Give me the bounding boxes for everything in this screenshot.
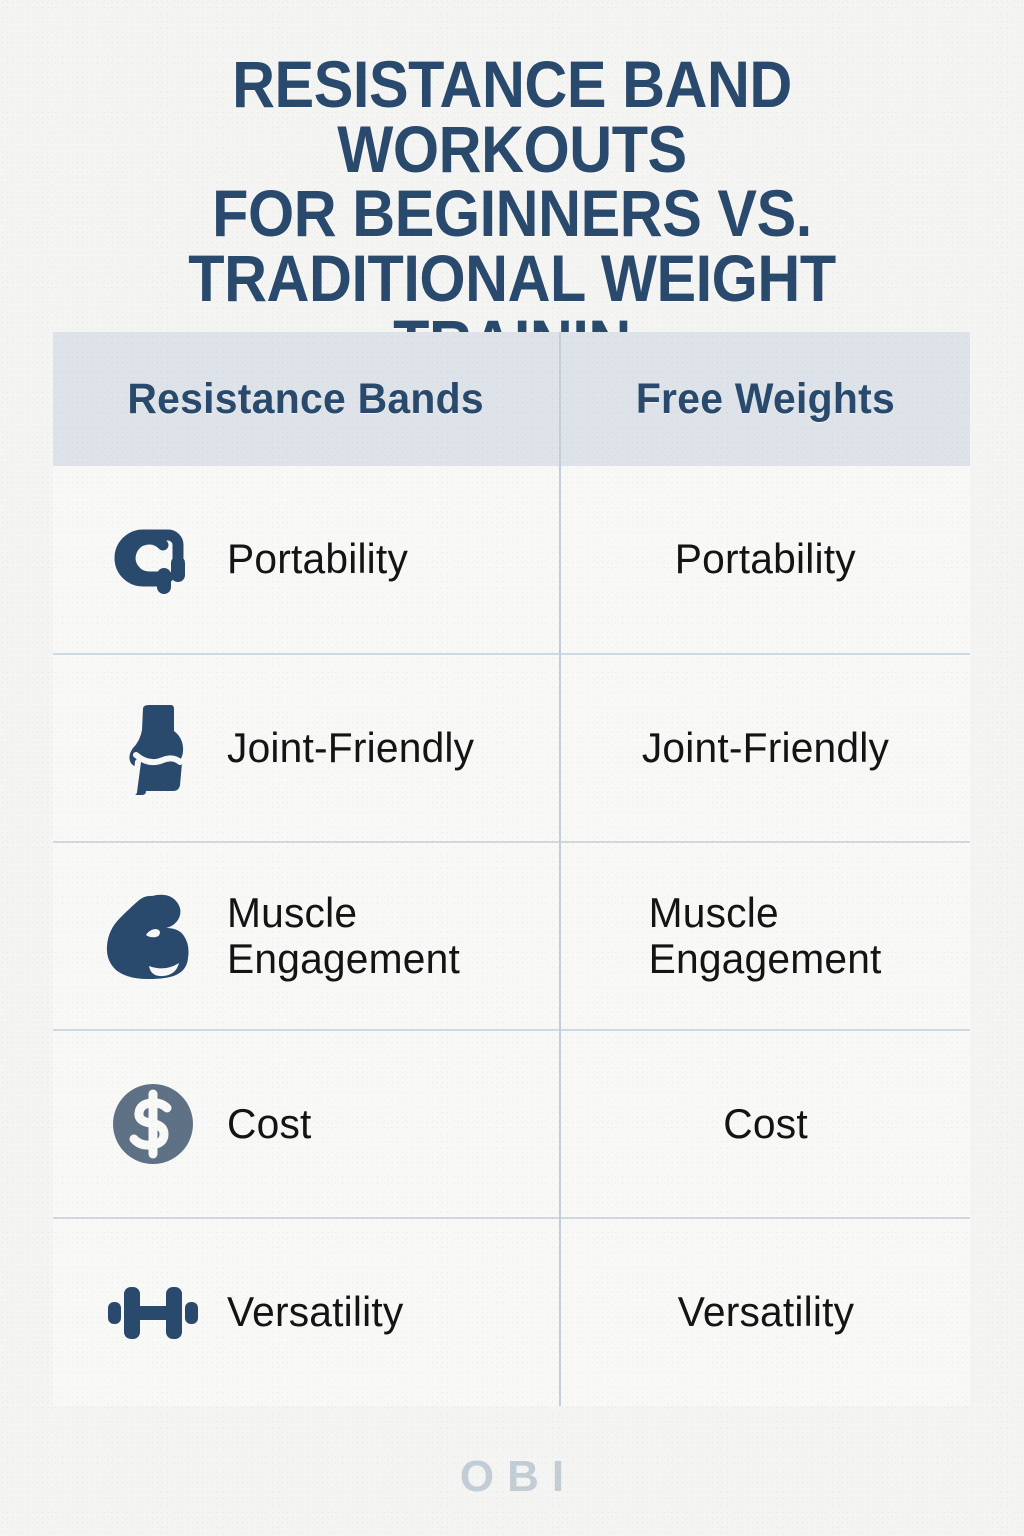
- brand-logo: OBI: [447, 1452, 577, 1502]
- cell-resistance-bands: Versatility: [53, 1218, 560, 1406]
- cell-free-weights: Cost: [560, 1030, 970, 1218]
- dumbbell-icon: [105, 1265, 201, 1361]
- row-label-right: Joint-Friendly: [642, 725, 889, 771]
- cell-resistance-bands: Portability: [53, 466, 560, 654]
- table-row: Muscle Engagement Muscle Engagement: [53, 842, 970, 1030]
- cell-free-weights: Joint-Friendly: [560, 654, 970, 842]
- cell-resistance-bands: Muscle Engagement: [53, 842, 560, 1030]
- column-header-resistance-bands: Resistance Bands: [53, 332, 560, 466]
- knee-joint-icon: [105, 700, 201, 796]
- row-label-left: Joint-Friendly: [227, 725, 474, 771]
- table-row: Cost Cost: [53, 1030, 970, 1218]
- row-label-left: Versatility: [227, 1289, 403, 1335]
- row-label-right: Portability: [675, 536, 856, 582]
- cell-free-weights: Versatility: [560, 1218, 970, 1406]
- table-body: Portability Portability: [53, 466, 970, 1406]
- column-header-label: Resistance Bands: [128, 375, 484, 424]
- table-row: Portability Portability: [53, 466, 970, 654]
- table-header: Resistance Bands Free Weights: [53, 332, 970, 466]
- cell-free-weights: Portability: [560, 466, 970, 654]
- footer: OBI: [0, 1452, 1024, 1502]
- row-label-left: Cost: [227, 1101, 312, 1147]
- column-header-free-weights: Free Weights: [560, 332, 970, 466]
- cell-resistance-bands: Cost: [53, 1030, 560, 1218]
- table-row: Joint-Friendly Joint-Friendly: [53, 654, 970, 842]
- dollar-coin-icon: [105, 1076, 201, 1172]
- cell-resistance-bands: Joint-Friendly: [53, 654, 560, 842]
- row-label-right: Muscle Engagement: [649, 890, 882, 982]
- page-title: Resistance Band Workouts for Beginners v…: [98, 52, 926, 375]
- title-block: Resistance Band Workouts for Beginners v…: [0, 0, 1024, 375]
- row-label-right: Cost: [723, 1101, 808, 1147]
- row-label-right: Versatility: [677, 1289, 853, 1335]
- row-label-left: Portability: [227, 536, 408, 582]
- table-header-row: Resistance Bands Free Weights: [53, 332, 970, 466]
- table-row: Versatility Versatility: [53, 1218, 970, 1406]
- resistance-band-icon: [105, 512, 201, 608]
- comparison-table-wrapper: Resistance Bands Free Weights: [53, 332, 970, 1406]
- cell-free-weights: Muscle Engagement: [560, 842, 970, 1030]
- flexed-bicep-icon: [105, 888, 201, 984]
- column-header-label: Free Weights: [636, 375, 895, 424]
- row-label-left: Muscle Engagement: [227, 890, 460, 982]
- comparison-table: Resistance Bands Free Weights: [53, 332, 970, 1406]
